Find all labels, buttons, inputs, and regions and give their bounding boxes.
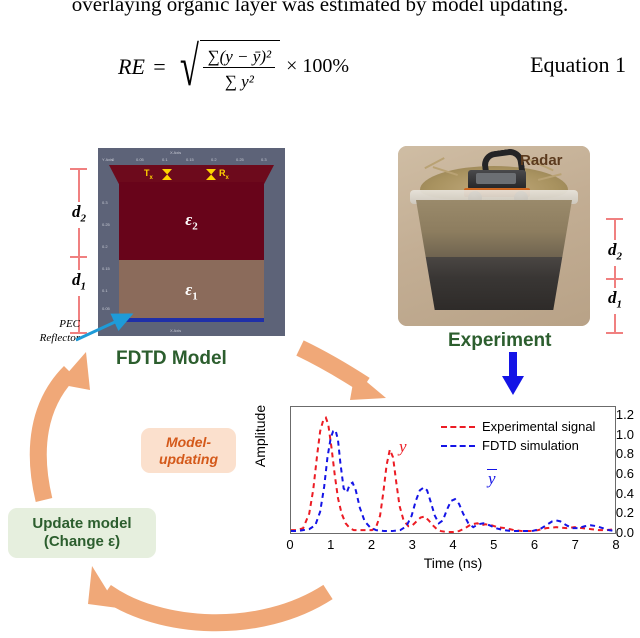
exp-d1-line-upper [614,278,616,288]
chart-xtick: 5 [484,537,504,552]
chart-xlabel: Time (ns) [290,555,616,571]
soil-layer [416,257,572,310]
tx-antenna-icon [161,169,173,180]
model-updating-line2: updating [159,451,218,467]
arrow-model-to-chart [300,348,386,400]
legend-entry-experimental: Experimental signal [441,417,595,436]
fdtd-tick-top-4: 0.2 [211,157,217,162]
fdtd-axis-name-top: X Axis [170,150,181,155]
chart-plot-area: Experimental signal FDTD simulation y y [290,406,616,534]
equation-tail: × 100% [286,55,349,78]
eps2-label: ε2 [119,210,264,232]
chart-xtick: 0 [280,537,300,552]
fdtd-tick-top-3: 0.15 [186,157,194,162]
legend-dash-fdtd [441,445,475,447]
radical-sign-icon: √ [180,45,199,89]
equation-1: RE = √ ∑(y − ȳ)² ∑ y² × 100% [118,40,349,93]
d1-label: d1 [60,270,98,292]
pec-pointer-arrow-icon [74,310,136,344]
fdtd-tick-top-1: 0.05 [136,157,144,162]
experiment-dimension-stack: d2 d1 [598,218,632,338]
fraction-denominator: ∑ y² [221,71,258,91]
fdtd-tick-top-5: 0.25 [236,157,244,162]
exp-d1-label: d1 [596,288,634,310]
model-updating-box: Model- updating [141,428,236,473]
equation-number-label: Equation 1 [530,52,626,78]
tx-label: Tx [144,168,153,181]
experiment-to-chart-arrow-icon [500,352,526,396]
fdtd-tick-left-2: 0.2 [102,244,108,249]
fdtd-tick-top-0: 0 [112,157,114,162]
fraction-numerator: ∑(y − ȳ)² [203,47,275,68]
chart-xtick: 1 [321,537,341,552]
d2-line-lower [78,228,80,256]
d2-label: d2 [60,202,98,224]
page-top-text: overlaying organic layer was estimated b… [0,0,640,17]
chart-xtick: 8 [606,537,626,552]
fdtd-tick-left-0: 0.3 [102,200,108,205]
exp-d1-cap-bottom [606,332,623,334]
update-model-line2: (Change ε) [44,533,120,550]
experiment-photo [398,146,590,326]
radicand: ∑(y − ȳ)² ∑ y² [200,40,280,93]
organic-layer [416,200,572,257]
fdtd-tick-top-2: 0.1 [162,157,168,162]
exp-d2-line-lower [614,266,616,278]
bin-container [416,200,572,310]
chart-legend: Experimental signal FDTD simulation [441,417,595,455]
exp-d2-label: d2 [596,240,634,262]
d1-line-upper [78,256,80,270]
radical-group: √ ∑(y − ȳ)² ∑ y² [174,40,280,93]
fdtd-pec-reflector [119,318,264,322]
equation-lhs: RE [118,54,145,80]
chart-xtick: 2 [362,537,382,552]
arrow-update-to-model [38,352,90,500]
experiment-caption: Experiment [448,330,551,352]
update-model-line1: Update model [32,515,131,532]
fdtd-axis-name-bottom: X Axis [170,328,181,333]
fdtd-tick-top-6: 0.3 [261,157,267,162]
exp-d1-line-lower [614,314,616,332]
legend-entry-fdtd: FDTD simulation [441,436,595,455]
chart-xtick: 7 [565,537,585,552]
equation-equals: = [152,54,167,80]
pec-reflector-label: PEC Reflector [6,318,80,346]
exp-d2-line-upper [614,218,616,240]
fdtd-layer-stack: Tx Rx ε2 ε1 [109,165,274,325]
radar-label: Radar [520,152,563,169]
signal-comparison-chart: Amplitude 0.00.20.40.60.81.01.2 01234567… [236,400,634,576]
update-model-box: Update model (Change ε) [8,508,156,558]
legend-dash-experimental [441,426,475,428]
model-updating-line1: Model- [166,434,211,450]
chart-ylabel: Amplitude [252,388,268,484]
rx-antenna-icon [205,169,217,180]
d2-line-upper [78,168,80,202]
chart-xtick: 6 [525,537,545,552]
fdtd-layer-eps1: ε1 [119,260,264,320]
fdtd-model-caption: FDTD Model [116,348,227,370]
annotation-y: y [399,437,407,457]
legend-label-experimental: Experimental signal [482,419,595,434]
fdtd-tick-left-4: 0.1 [102,288,108,293]
annotation-y-bar: y [487,469,497,489]
chart-xtick: 4 [443,537,463,552]
fdtd-model-panel: X Axis Y Axis 0 0.05 0.1 0.15 0.2 0.25 0… [98,148,285,336]
legend-label-fdtd: FDTD simulation [482,438,579,453]
equation-row: RE = √ ∑(y − ȳ)² ∑ y² × 100% Equation 1 [0,38,640,100]
eps1-label: ε1 [119,280,264,302]
fraction: ∑(y − ȳ)² ∑ y² [203,43,275,93]
rx-label: Rx [219,168,229,181]
chart-xtick: 3 [402,537,422,552]
radar-screen [476,173,516,184]
fdtd-layer-eps2: ε2 [119,182,264,260]
